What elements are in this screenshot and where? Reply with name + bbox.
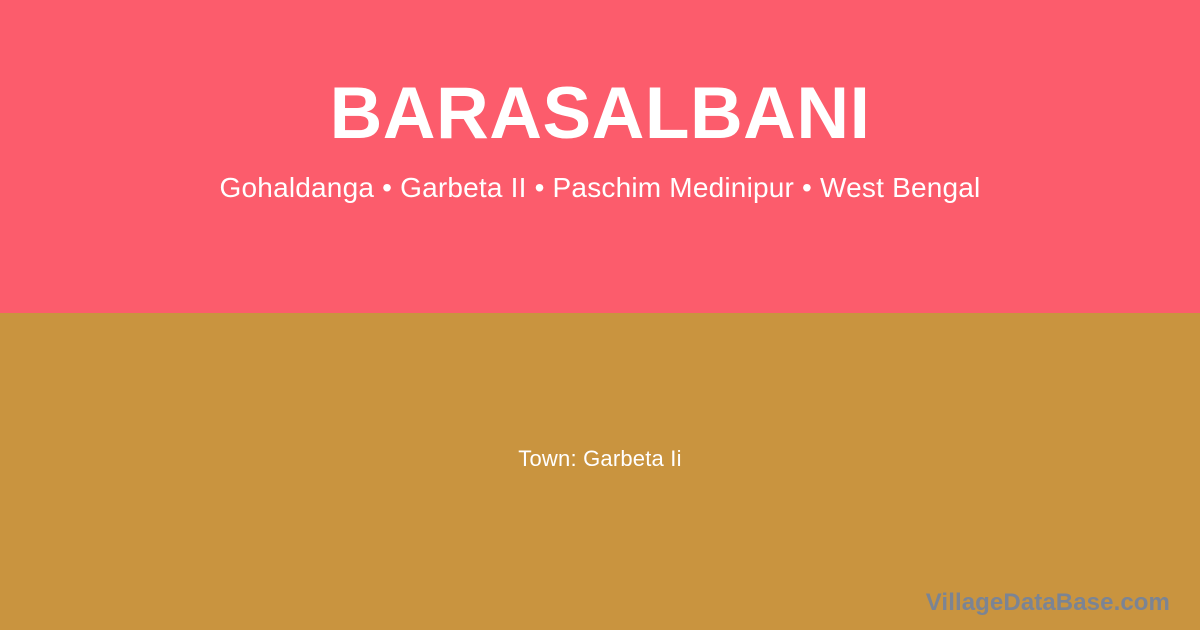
hero-banner: BARASALBANI Gohaldanga • Garbeta II • Pa… bbox=[0, 0, 1200, 313]
location-breadcrumb: Gohaldanga • Garbeta II • Paschim Medini… bbox=[220, 171, 981, 205]
village-info-card: BARASALBANI Gohaldanga • Garbeta II • Pa… bbox=[0, 0, 1200, 630]
page-title: BARASALBANI bbox=[330, 76, 871, 153]
site-watermark: VillageDataBase.com bbox=[926, 589, 1170, 617]
detail-panel: Town: Garbeta Ii bbox=[0, 313, 1200, 630]
town-detail-text: Town: Garbeta Ii bbox=[518, 446, 681, 472]
